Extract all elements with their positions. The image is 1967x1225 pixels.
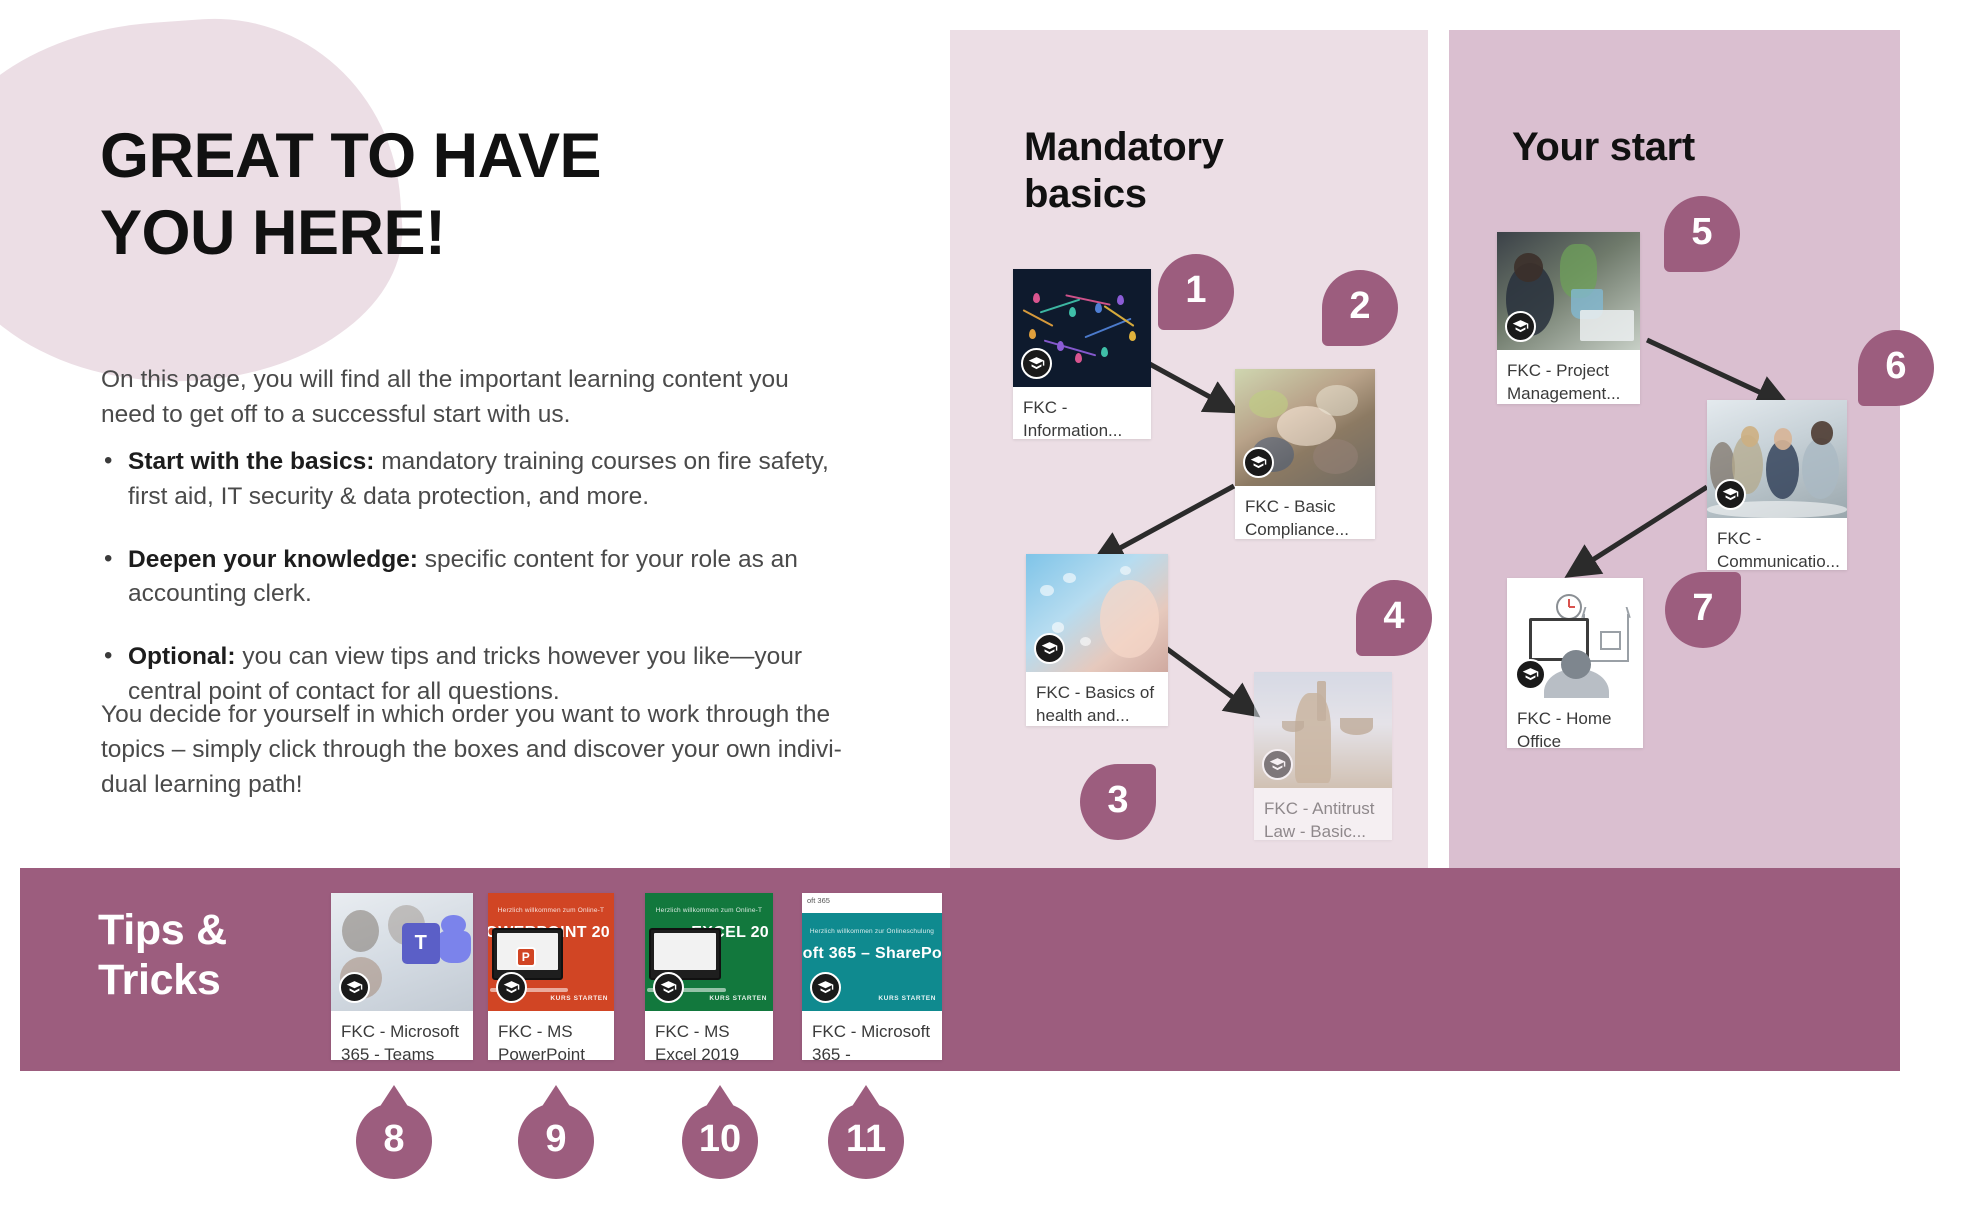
- column-title-your-start: Your start: [1512, 124, 1842, 171]
- bullet-lead: Deepen your knowledge:: [128, 546, 418, 573]
- tips-course-card[interactable]: Herzlich willkommen zum Online-T EXCEL 2…: [645, 893, 773, 1060]
- card-thumbnail: [1497, 232, 1640, 350]
- bullet-dot-icon: •: [104, 639, 112, 673]
- graduation-cap-icon: [653, 972, 684, 1003]
- card-label: FKC - Microsoft 365 - Teams: [331, 1011, 473, 1060]
- course-card[interactable]: FKC - Communicatio...: [1707, 400, 1847, 570]
- page-title-line1: GREAT TO HAVE: [100, 121, 601, 191]
- step-badge-8: 8: [356, 1103, 432, 1179]
- slide-title-text: crosoft 365 – SharePo: [802, 945, 942, 963]
- column-title-mandatory-basics: Mandatory basics: [1024, 124, 1344, 218]
- graduation-cap-icon: [1505, 311, 1536, 342]
- card-thumbnail: [1707, 400, 1847, 518]
- slide-cta-text: KURS STARTEN: [878, 995, 936, 1002]
- step-badge-5: 5: [1664, 196, 1740, 272]
- step-badge-9: 9: [518, 1103, 594, 1179]
- slide-strip-text: oft 365: [802, 893, 942, 913]
- card-label: FKC - MS Excel 2019: [645, 1011, 773, 1060]
- card-label: FKC - Antitrust Law - Basic...: [1254, 788, 1392, 840]
- card-label: FKC - Home Office: [1507, 698, 1643, 748]
- graduation-cap-icon: [1262, 749, 1293, 780]
- graduation-cap-icon: [339, 972, 370, 1003]
- bullet-lead: Start with the basics:: [128, 448, 374, 475]
- hero-section: GREAT TO HAVE YOU HERE! On this page, yo…: [0, 0, 950, 868]
- list-item: • Deepen your knowledge: specific conten…: [101, 543, 861, 613]
- card-thumbnail: Herzlich willkommen zum Online-T EXCEL 2…: [645, 893, 773, 1011]
- step-badge-7: 7: [1665, 572, 1741, 648]
- step-badge-11: 11: [828, 1103, 904, 1179]
- card-thumbnail: T: [331, 893, 473, 1011]
- course-card[interactable]: FKC - Project Management...: [1497, 232, 1640, 404]
- column-title-line1: Your start: [1512, 125, 1695, 169]
- card-label: FKC - Information...: [1013, 387, 1151, 439]
- slide-welcome-text: Herzlich willkommen zur Onlineschulung: [802, 928, 942, 935]
- bullet-dot-icon: •: [104, 444, 112, 478]
- step-badge-10: 10: [682, 1103, 758, 1179]
- card-thumbnail: [1013, 269, 1151, 387]
- tips-and-tricks-bar: Tips & Tricks: [20, 868, 1900, 1071]
- step-badge-3: 3: [1080, 764, 1156, 840]
- bullet-dot-icon: •: [104, 542, 112, 576]
- step-badge-2: 2: [1322, 270, 1398, 346]
- tips-course-card[interactable]: oft 365 Herzlich willkommen zur Onlinesc…: [802, 893, 942, 1060]
- tips-course-card[interactable]: T FKC - Microsoft 365 - Teams: [331, 893, 473, 1060]
- column-title-line1: Mandatory: [1024, 125, 1224, 169]
- teams-logo-icon: T: [389, 912, 471, 980]
- list-item: • Start with the basics: mandatory train…: [101, 445, 861, 515]
- graduation-cap-icon: [1515, 659, 1546, 690]
- card-label: FKC - Microsoft 365 - SharePoint: [802, 1011, 942, 1060]
- graduation-cap-icon: [1021, 348, 1052, 379]
- graduation-cap-icon: [810, 972, 841, 1003]
- card-label: FKC - Project Management...: [1497, 350, 1640, 404]
- slide-welcome-text: Herzlich willkommen zum Online-T: [488, 907, 614, 914]
- column-title-line2: basics: [1024, 172, 1147, 216]
- course-card[interactable]: FKC - Basics of health and...: [1026, 554, 1168, 726]
- tips-and-tricks-title: Tips & Tricks: [98, 906, 227, 1006]
- bullet-list: • Start with the basics: mandatory train…: [101, 445, 861, 738]
- step-badge-1: 1: [1158, 254, 1234, 330]
- step-badge-6: 6: [1858, 330, 1934, 406]
- course-card[interactable]: FKC - Basic Compliance...: [1235, 369, 1375, 539]
- graduation-cap-icon: [1243, 447, 1274, 478]
- page-title: GREAT TO HAVE YOU HERE!: [100, 118, 860, 272]
- graduation-cap-icon: [496, 972, 527, 1003]
- card-thumbnail: Herzlich willkommen zum Online-T POWERPO…: [488, 893, 614, 1011]
- tips-title-line1: Tips &: [98, 906, 227, 954]
- card-thumbnail: [1507, 578, 1643, 698]
- page-title-line2: YOU HERE!: [100, 198, 446, 268]
- slide-welcome-text: Herzlich willkommen zum Online-T: [645, 907, 773, 914]
- tips-title-line2: Tricks: [98, 956, 221, 1004]
- course-card[interactable]: FKC - Home Office: [1507, 578, 1643, 748]
- card-label: FKC - Basic Compliance...: [1235, 486, 1375, 539]
- card-label: FKC - Basics of health and...: [1026, 672, 1168, 726]
- card-label: FKC - MS PowerPoint 2019: [488, 1011, 614, 1060]
- card-thumbnail: oft 365 Herzlich willkommen zur Onlinesc…: [802, 893, 942, 1011]
- outro-paragraph: You decide for yourself in which order y…: [101, 698, 861, 802]
- tips-course-card[interactable]: Herzlich willkommen zum Online-T POWERPO…: [488, 893, 614, 1060]
- slide-cta-text: KURS STARTEN: [550, 995, 608, 1002]
- step-badge-4: 4: [1356, 580, 1432, 656]
- course-card[interactable]: FKC - Antitrust Law - Basic...: [1254, 672, 1392, 840]
- graduation-cap-icon: [1715, 479, 1746, 510]
- card-thumbnail: [1235, 369, 1375, 486]
- intro-paragraph: On this page, you will find all the impo…: [101, 363, 846, 433]
- bullet-lead: Optional:: [128, 643, 236, 670]
- slide-cta-text: KURS STARTEN: [709, 995, 767, 1002]
- card-label: FKC - Communicatio...: [1707, 518, 1847, 570]
- graduation-cap-icon: [1034, 633, 1065, 664]
- card-thumbnail: [1254, 672, 1392, 788]
- card-thumbnail: [1026, 554, 1168, 672]
- course-card[interactable]: FKC - Information...: [1013, 269, 1151, 439]
